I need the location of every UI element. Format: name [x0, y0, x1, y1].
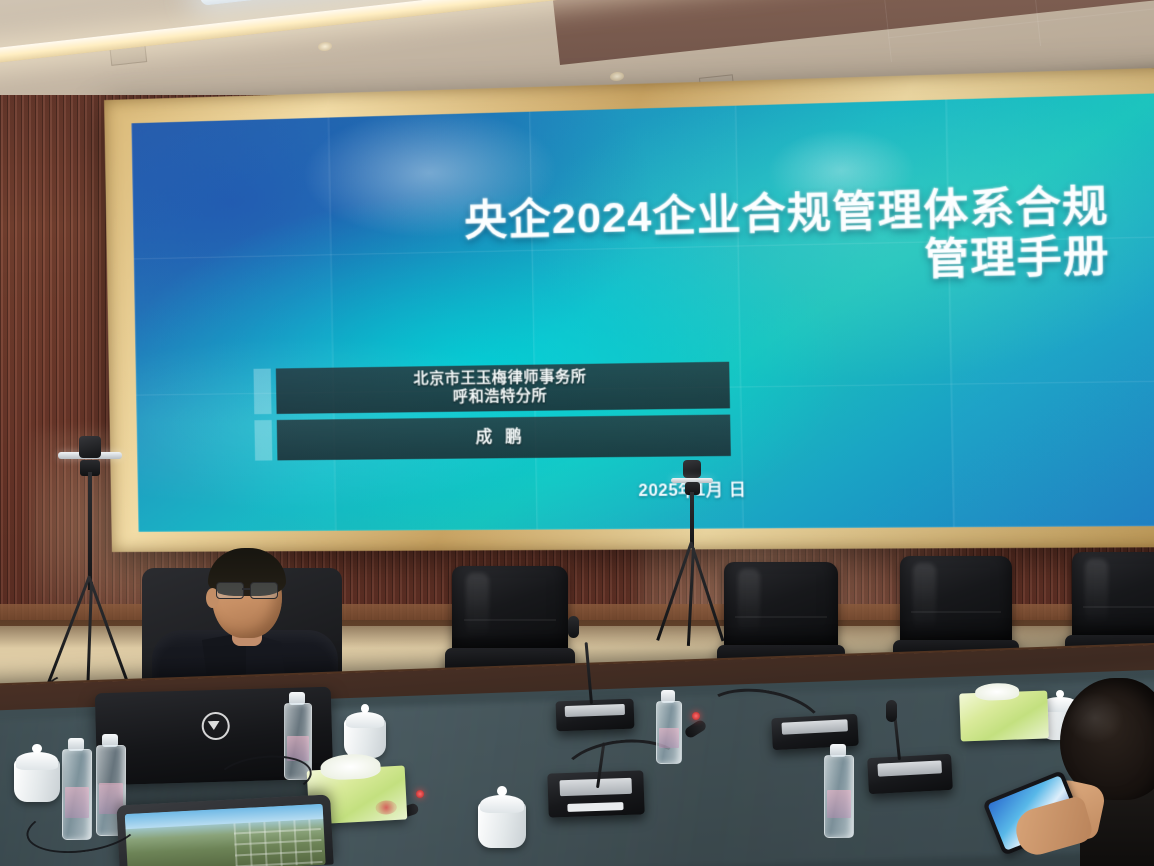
eyeglass-lens-left	[216, 582, 244, 599]
slide-title: 央企2024企业合规管理体系合规 管理手册	[221, 181, 1110, 298]
mic-status-led	[692, 712, 700, 720]
conference-room-scene: 央企2024企业合规管理体系合规 管理手册 北京市王玉梅律师事务所 呼和浩特分所…	[0, 0, 1154, 866]
laptop-logo	[201, 712, 230, 741]
slide-byline: 北京市王玉梅律师事务所 呼和浩特分所 成 鹏	[253, 362, 731, 467]
teacup-lid	[16, 752, 58, 769]
mic-display-panel	[877, 760, 941, 776]
tissue-box[interactable]	[959, 690, 1049, 741]
attendee	[1050, 678, 1154, 866]
mic-capsule	[886, 700, 897, 722]
tissue-sheet	[975, 683, 1020, 701]
byline-accent-tab	[254, 420, 272, 460]
chair-back	[900, 556, 1012, 645]
teacup-lid	[346, 712, 385, 728]
lidded-teacup[interactable]	[478, 786, 526, 848]
camera-tripod	[662, 462, 722, 646]
byline-org-box: 北京市王玉梅律师事务所 呼和浩特分所	[276, 362, 730, 415]
tripod-camera	[79, 436, 101, 458]
tripod-leg	[690, 544, 724, 642]
tripod-leg	[687, 548, 695, 646]
water-bottle[interactable]	[656, 690, 680, 762]
byline-org-row: 北京市王玉梅律师事务所 呼和浩特分所	[253, 362, 730, 415]
chair-back	[1072, 552, 1154, 640]
bottle-label	[827, 790, 851, 818]
chair-back	[452, 566, 568, 652]
mic-capsule	[568, 616, 579, 638]
lidded-teacup[interactable]	[14, 744, 60, 802]
chair-back	[724, 562, 838, 650]
teacup-knob	[32, 744, 41, 753]
conference-microphone[interactable]	[867, 754, 953, 794]
teacup-knob	[361, 704, 369, 713]
laptop[interactable]	[116, 794, 333, 866]
tissue-box-logo	[375, 799, 397, 814]
led-video-wall[interactable]: 央企2024企业合规管理体系合规 管理手册 北京市王玉梅律师事务所 呼和浩特分所…	[131, 93, 1154, 532]
chair-highlight	[1085, 559, 1107, 626]
bottle-body	[824, 755, 854, 838]
laptop-screen[interactable]	[125, 804, 326, 866]
conference-microphone[interactable]	[556, 699, 635, 732]
chair-highlight	[738, 569, 761, 636]
lidded-teacup[interactable]	[344, 704, 386, 758]
mic-display-panel	[565, 704, 625, 717]
teacup-knob	[497, 786, 507, 796]
screen-gold-frame: 央企2024企业合规管理体系合规 管理手册 北京市王玉梅律师事务所 呼和浩特分所…	[104, 66, 1154, 552]
desktop-icon-grid	[233, 819, 322, 866]
water-bottle[interactable]	[824, 744, 852, 836]
tripod-column	[690, 492, 694, 548]
eyeglass-bridge	[242, 588, 250, 590]
byline-presenter-box: 成 鹏	[276, 415, 730, 460]
eyeglasses	[216, 582, 282, 598]
tripod-camera	[683, 460, 701, 478]
mic-status-led	[416, 790, 424, 798]
bottle-body	[656, 701, 682, 764]
eyeglass-lens-right	[250, 582, 278, 599]
teacup-lid	[480, 795, 524, 814]
tripod-column	[88, 472, 92, 590]
byline-accent-tab	[253, 368, 271, 414]
chair-highlight	[466, 573, 489, 639]
bottle-label	[659, 728, 680, 749]
byline-presenter-row: 成 鹏	[254, 415, 731, 461]
chair-highlight	[913, 563, 935, 631]
